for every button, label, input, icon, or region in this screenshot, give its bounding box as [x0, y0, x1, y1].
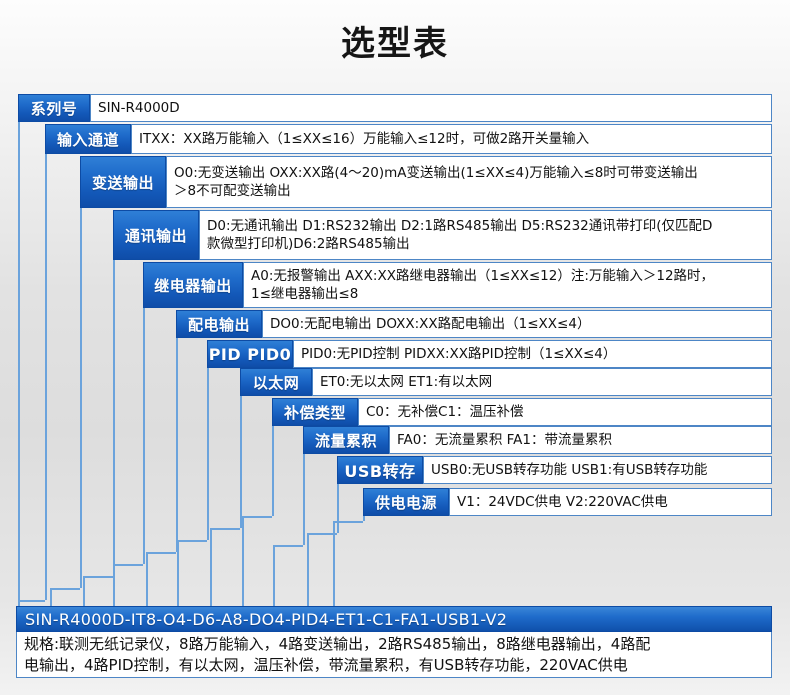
- spec-row-label[interactable]: 供电电源: [363, 488, 449, 516]
- spec-row-label[interactable]: 输入通道: [45, 124, 131, 154]
- spec-row-value-line: ET0:无以太网 ET1:有以太网: [320, 373, 766, 391]
- connector-segment: [210, 528, 240, 530]
- connector-segment: [272, 426, 274, 516]
- spec-row-label[interactable]: 系列号: [18, 94, 90, 122]
- spec-row-value-line: USB0:无USB转存功能 USB1:有USB转存功能: [431, 461, 766, 479]
- connector-segment: [363, 516, 365, 521]
- spec-row-value: USB0:无USB转存功能 USB1:有USB转存功能: [423, 456, 772, 484]
- spec-row-value: O0:无变送输出 OXX:XX路(4～20)mA变送输出(1≤XX≤4)万能输入…: [166, 156, 772, 208]
- connector-segment: [333, 521, 335, 606]
- spec-row-value: D0:无通讯输出 D1:RS232输出 D2:1路RS485输出 D5:RS23…: [199, 210, 772, 260]
- connector-segment: [210, 528, 212, 606]
- spec-description-line: 电输出，4路PID控制，有以太网，温压补偿，带流量累积，有USB转存功能，220…: [24, 655, 765, 676]
- spec-row-value-line: O0:无变送输出 OXX:XX路(4～20)mA变送输出(1≤XX≤4)万能输入…: [174, 164, 766, 182]
- spec-row: 配电输出DO0:无配电输出 DOXX:XX路配电输出（1≤XX≤4）: [176, 310, 772, 338]
- connector-segment: [307, 533, 309, 606]
- connector-segment: [143, 308, 145, 564]
- spec-row-value-line: C0：无补偿C1：温压补偿: [366, 403, 766, 421]
- connector-segment: [80, 208, 82, 588]
- spec-row-label[interactable]: 流量累积: [303, 426, 389, 454]
- connector-segment: [176, 338, 178, 552]
- spec-row-value: PID0:无PID控制 PIDXX:XX路PID控制（1≤XX≤4）: [293, 340, 772, 368]
- connector-segment: [240, 396, 242, 528]
- spec-row: PID PID0PID0:无PID控制 PIDXX:XX路PID控制（1≤XX≤…: [207, 340, 772, 368]
- spec-row-label[interactable]: 继电器输出: [143, 262, 243, 308]
- connector-segment: [177, 540, 179, 606]
- spec-row-value: V1：24VDC供电 V2:220VAC供电: [449, 488, 772, 516]
- spec-description-box: 规格:联测无纸记录仪，8路万能输入，4路变送输出，2路RS485输出，8路继电器…: [16, 632, 772, 678]
- spec-row: 系列号SIN-R4000D: [18, 94, 772, 122]
- connector-segment: [273, 545, 275, 606]
- page-title: 选型表: [0, 22, 790, 66]
- selection-table-page: 选型表 系列号SIN-R4000D输入通道ITXX：XX路万能输入（1≤XX≤1…: [0, 0, 790, 695]
- spec-row-value-line: A0:无报警输出 AXX:XX路继电器输出（1≤XX≤12）注:万能输入＞12路…: [251, 267, 766, 285]
- connector-segment: [177, 540, 207, 542]
- spec-row-value-line: FA0：无流量累积 FA1：带流量累积: [397, 431, 766, 449]
- spec-row-value-line: DO0:无配电输出 DOXX:XX路配电输出（1≤XX≤4）: [270, 315, 766, 333]
- spec-row-label[interactable]: 补偿类型: [272, 398, 358, 426]
- spec-row-value: FA0：无流量累积 FA1：带流量累积: [389, 426, 772, 454]
- connector-segment: [146, 552, 176, 554]
- spec-row-value-line: V1：24VDC供电 V2:220VAC供电: [457, 493, 766, 511]
- spec-row: USB转存USB0:无USB转存功能 USB1:有USB转存功能: [337, 456, 772, 484]
- connector-segment: [18, 600, 45, 602]
- connector-segment: [18, 122, 20, 606]
- connector-segment: [45, 154, 47, 600]
- connector-segment: [273, 545, 303, 547]
- spec-row-value: DO0:无配电输出 DOXX:XX路配电输出（1≤XX≤4）: [262, 310, 772, 338]
- spec-row: 继电器输出A0:无报警输出 AXX:XX路继电器输出（1≤XX≤12）注:万能输…: [143, 262, 772, 308]
- connector-segment: [207, 368, 209, 540]
- spec-row: 通讯输出D0:无通讯输出 D1:RS232输出 D2:1路RS485输出 D5:…: [113, 210, 772, 260]
- connector-segment: [146, 552, 148, 606]
- spec-row-value-line: ＞8不可配变送输出: [174, 182, 766, 200]
- spec-row-label[interactable]: 通讯输出: [113, 210, 199, 260]
- spec-row-value-line: SIN-R4000D: [98, 99, 766, 117]
- connector-segment: [113, 564, 115, 606]
- spec-row-label[interactable]: 配电输出: [176, 310, 262, 338]
- connector-segment: [242, 516, 244, 606]
- spec-row-value: A0:无报警输出 AXX:XX路继电器输出（1≤XX≤12）注:万能输入＞12路…: [243, 262, 772, 308]
- spec-row-value-line: ITXX：XX路万能输入（1≤XX≤16）万能输入≤12时，可做2路开关量输入: [139, 130, 766, 148]
- connector-segment: [333, 521, 363, 523]
- model-code-bar: SIN-R4000D-IT8-O4-D6-A8-DO4-PID4-ET1-C1-…: [16, 606, 772, 632]
- spec-row-value-line: PID0:无PID控制 PIDXX:XX路PID控制（1≤XX≤4）: [301, 345, 766, 363]
- connector-segment: [50, 588, 52, 606]
- connector-segment: [113, 564, 143, 566]
- spec-row-value-line: D0:无通讯输出 D1:RS232输出 D2:1路RS485输出 D5:RS23…: [207, 217, 766, 235]
- spec-row-value: C0：无补偿C1：温压补偿: [358, 398, 772, 426]
- spec-row-value-line: 款微型打印机)D6:2路RS485输出: [207, 235, 766, 253]
- spec-row-value: ITXX：XX路万能输入（1≤XX≤16）万能输入≤12时，可做2路开关量输入: [131, 124, 772, 154]
- connector-segment: [113, 260, 115, 576]
- spec-row-label[interactable]: PID PID0: [207, 340, 293, 368]
- spec-row-value-line: 1≤继电器输出≤8: [251, 285, 766, 303]
- spec-row-label[interactable]: 以太网: [240, 368, 312, 396]
- spec-row-label[interactable]: 变送输出: [80, 156, 166, 208]
- spec-row: 变送输出O0:无变送输出 OXX:XX路(4～20)mA变送输出(1≤XX≤4)…: [80, 156, 772, 208]
- connector-segment: [303, 454, 305, 545]
- connector-segment: [242, 516, 272, 518]
- spec-row-label[interactable]: USB转存: [337, 456, 423, 484]
- spec-row-value: ET0:无以太网 ET1:有以太网: [312, 368, 772, 396]
- connector-segment: [83, 576, 85, 606]
- connector-segment: [337, 484, 339, 533]
- spec-row: 供电电源V1：24VDC供电 V2:220VAC供电: [363, 488, 772, 516]
- spec-row: 补偿类型C0：无补偿C1：温压补偿: [272, 398, 772, 426]
- connector-segment: [50, 588, 80, 590]
- spec-row: 输入通道ITXX：XX路万能输入（1≤XX≤16）万能输入≤12时，可做2路开关…: [45, 124, 772, 154]
- spec-row: 以太网ET0:无以太网 ET1:有以太网: [240, 368, 772, 396]
- spec-row-value: SIN-R4000D: [90, 94, 772, 122]
- spec-description-line: 规格:联测无纸记录仪，8路万能输入，4路变送输出，2路RS485输出，8路继电器…: [24, 634, 765, 655]
- connector-segment: [83, 576, 113, 578]
- spec-row: 流量累积FA0：无流量累积 FA1：带流量累积: [303, 426, 772, 454]
